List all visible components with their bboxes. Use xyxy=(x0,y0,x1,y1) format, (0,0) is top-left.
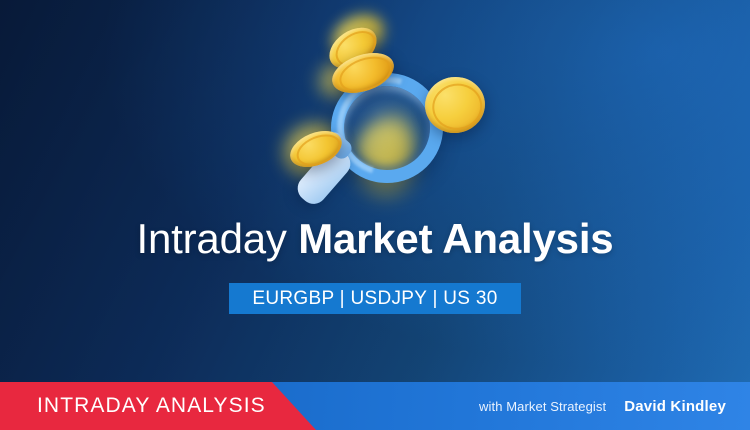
instrument-pairs-label: EURGBP | USDJPY | US 30 xyxy=(252,288,497,310)
page-title-bold: Market Analysis xyxy=(298,215,613,262)
intraday-market-analysis-banner: Intraday Market Analysis EURGBP | USDJPY… xyxy=(0,0,750,430)
bottom-bar: INTRADAY ANALYSIS with Market Strategist… xyxy=(0,382,750,430)
magnifier-coins-illustration xyxy=(275,5,495,210)
instrument-pairs-badge: EURGBP | USDJPY | US 30 xyxy=(229,283,521,314)
strategist-role-label: with Market Strategist xyxy=(479,399,606,414)
page-title-light: Intraday xyxy=(137,215,287,262)
page-title: Intraday Market Analysis xyxy=(0,218,750,260)
section-label: INTRADAY ANALYSIS xyxy=(37,382,266,430)
strategist-name: David Kindley xyxy=(624,398,726,415)
strategist-credit: with Market Strategist David Kindley xyxy=(479,382,726,430)
gold-coin-icon xyxy=(421,73,488,137)
